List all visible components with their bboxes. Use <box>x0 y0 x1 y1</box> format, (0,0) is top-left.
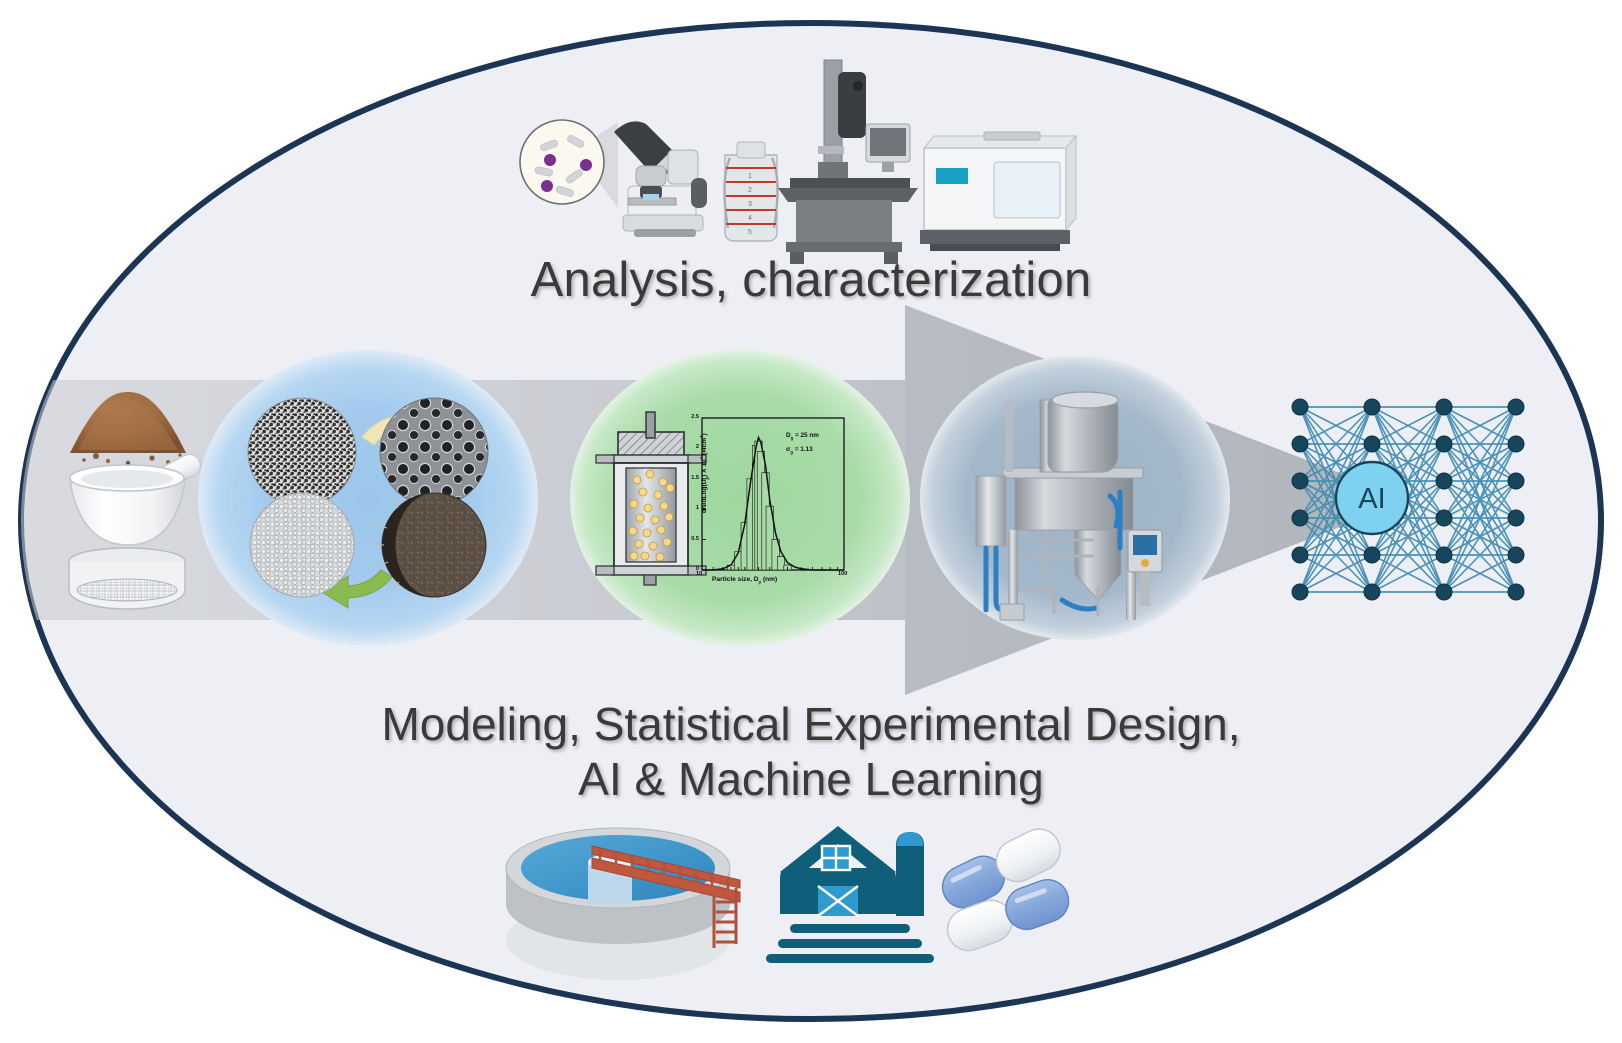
sieve-icon <box>69 548 185 609</box>
spectrometer-analyzer-icon <box>920 132 1076 251</box>
particle-size-distribution-chart: dN/dLog(Dp) X 104 (#/cm3) Particle size,… <box>676 410 848 590</box>
heading-modeling-line2: AI & Machine Learning <box>578 752 1043 806</box>
svg-text:2: 2 <box>748 187 752 194</box>
water-treatment-clarifier-icon <box>506 828 740 980</box>
svg-text:3: 3 <box>748 201 752 208</box>
ai-node-label: AI <box>1337 483 1407 516</box>
stage-ellipse-particle <box>198 350 538 646</box>
heading-analysis: Analysis, characterization <box>531 252 1092 308</box>
granular-particle-micrograph <box>250 493 354 597</box>
sieve-stack-icon: 123 45 <box>724 142 777 241</box>
svg-text:1: 1 <box>748 173 752 180</box>
svg-text:5: 5 <box>748 229 752 236</box>
heading-modeling-line1: Modeling, Statistical Experimental Desig… <box>381 697 1240 751</box>
chart-y-axis-label: dN/dLog(Dp) X 104 (#/cm3) <box>699 418 710 528</box>
chart-x-axis-label: Particle size, Dp (nm) <box>712 576 777 584</box>
macroporous-particle-micrograph <box>380 398 488 506</box>
figure-canvas: 123 45 <box>0 0 1622 1043</box>
porous-particle-micrograph <box>248 398 356 506</box>
svg-text:4: 4 <box>748 215 752 222</box>
